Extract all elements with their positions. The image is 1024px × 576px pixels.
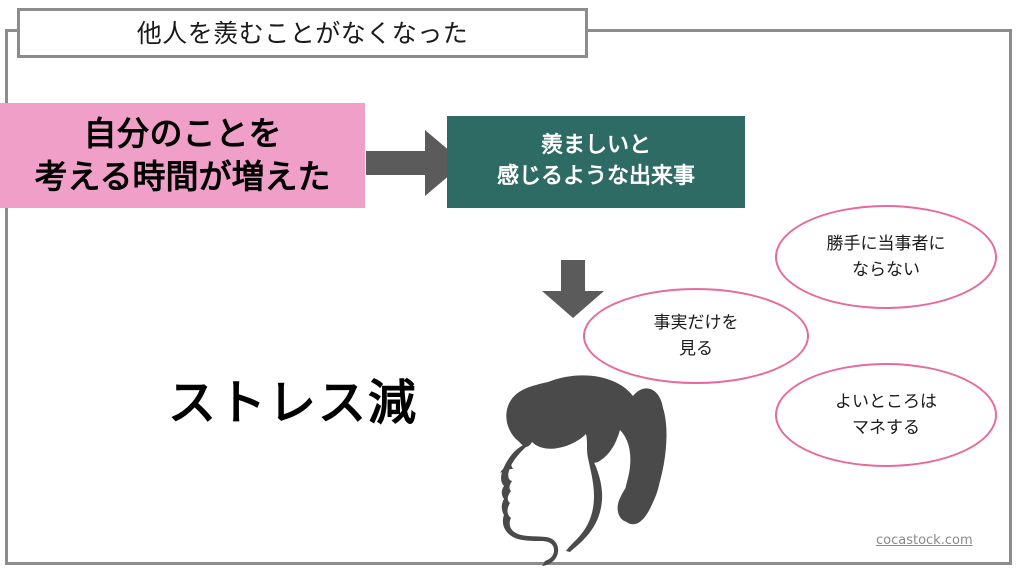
cause-box: 自分のことを 考える時間が増えた [0, 103, 365, 208]
arrow-down-icon [542, 260, 604, 318]
title-box: 他人を羨むことがなくなった [17, 8, 588, 58]
bubble-3-line-1: よいところは [835, 389, 937, 415]
result-text: ストレス減 [168, 379, 418, 427]
bubble-1: 勝手に当事者に ならない [775, 205, 997, 309]
cause-box-line-2: 考える時間が増えた [34, 156, 330, 198]
page-title: 他人を羨むことがなくなった [137, 21, 469, 46]
woman-head-silhouette-icon [470, 368, 680, 568]
slide-canvas: 他人を羨むことがなくなった 自分のことを 考える時間が増えた 羨ましいと 感じる… [0, 0, 1024, 576]
bubble-1-line-1: 勝手に当事者に [827, 231, 946, 257]
bubble-3-line-2: マネする [852, 415, 920, 441]
frame-border-right [1009, 29, 1012, 565]
bubble-2-line-1: 事実だけを [654, 310, 739, 336]
trigger-box-line-1: 羨ましいと [541, 131, 651, 162]
bubble-2: 事実だけを 見る [583, 288, 809, 384]
trigger-box-line-2: 感じるような出来事 [497, 162, 695, 193]
bubble-2-line-2: 見る [679, 336, 713, 362]
trigger-box: 羨ましいと 感じるような出来事 [447, 116, 745, 208]
bubble-1-line-2: ならない [852, 257, 920, 283]
watermark: cocastock.com [876, 533, 973, 548]
bubble-3: よいところは マネする [775, 363, 997, 467]
cause-box-line-1: 自分のことを [84, 113, 282, 155]
